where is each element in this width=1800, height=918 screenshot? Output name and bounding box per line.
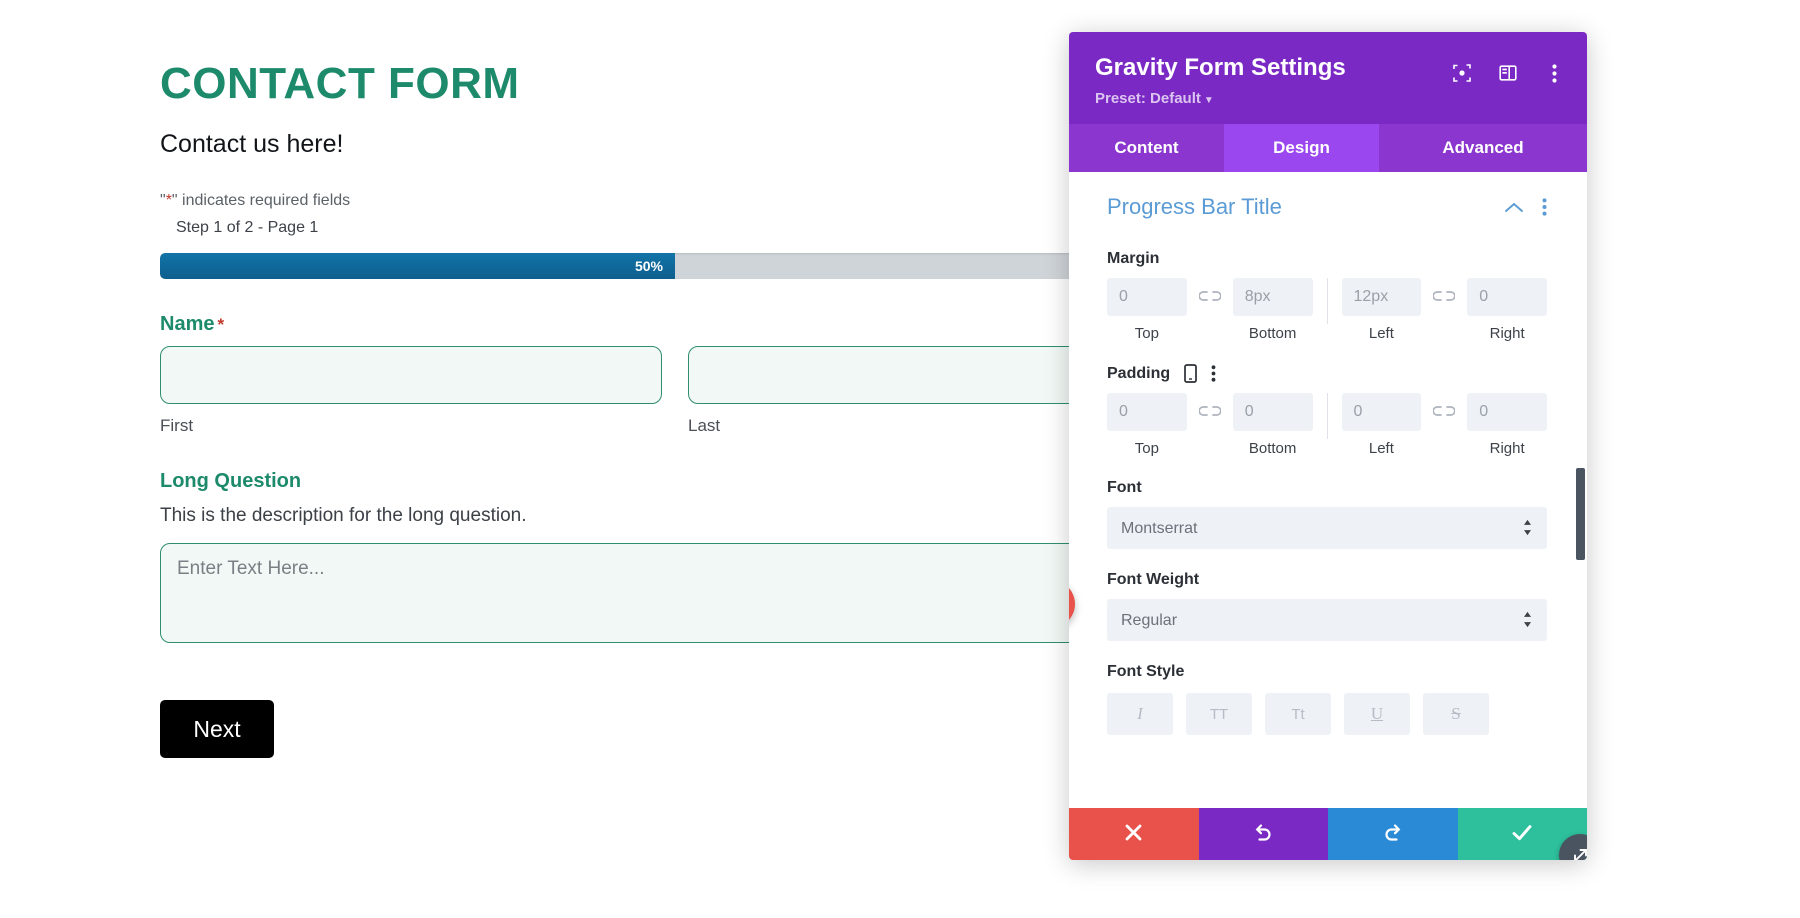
name-field-row: First Last	[160, 346, 1190, 436]
font-weight-group: Font Weight Regular	[1107, 571, 1547, 641]
margin-inputs: Top Bottom	[1107, 278, 1547, 342]
name-field-label: Name*	[160, 313, 1180, 336]
font-select[interactable]: Montserrat	[1107, 507, 1547, 549]
long-question-label: Long Question	[160, 470, 1180, 493]
padding-top-bottom-pair: Top Bottom	[1107, 393, 1313, 457]
name-first-column: First	[160, 346, 662, 436]
required-note-text: " indicates required fields	[172, 192, 350, 209]
step-indicator: Step 1 of 2 - Page 1	[176, 219, 1180, 237]
font-style-label: Font Style	[1107, 663, 1547, 681]
panel-footer	[1069, 808, 1587, 860]
margin-label: Margin	[1107, 250, 1547, 268]
margin-right-input[interactable]	[1467, 278, 1547, 316]
panel-scrollbar[interactable]	[1576, 172, 1585, 808]
panel-body: Progress Bar Title	[1069, 172, 1587, 808]
font-style-label-text: Font Style	[1107, 663, 1184, 681]
font-style-buttons: I TT Tt U S	[1107, 693, 1547, 735]
close-x-icon	[1124, 823, 1143, 845]
padding-left-cell: Left	[1342, 393, 1422, 457]
progress-bar: 50%	[160, 253, 1190, 279]
contact-form: CONTACT FORM Contact us here! "*" indica…	[160, 60, 1180, 758]
font-style-uppercase-button[interactable]: TT	[1186, 693, 1252, 735]
padding-left-right-pair: Left Right	[1342, 393, 1548, 457]
next-button[interactable]: Next	[160, 700, 274, 758]
margin-top-input[interactable]	[1107, 278, 1187, 316]
form-subtitle: Contact us here!	[160, 130, 1180, 159]
padding-label-text: Padding	[1107, 365, 1170, 383]
undo-icon	[1252, 822, 1274, 847]
padding-bottom-caption: Bottom	[1233, 440, 1313, 457]
padding-kebab-menu-icon[interactable]	[1211, 365, 1216, 382]
name-first-caption: First	[160, 416, 662, 436]
margin-group: Margin Top	[1107, 250, 1547, 342]
margin-top-caption: Top	[1107, 325, 1187, 342]
margin-left-caption: Left	[1342, 325, 1422, 342]
panel-scrollbar-thumb[interactable]	[1576, 468, 1585, 560]
margin-bottom-cell: Bottom	[1233, 278, 1313, 342]
undo-button[interactable]	[1199, 808, 1329, 860]
name-label-text: Name	[160, 313, 214, 335]
section-header-icons	[1504, 198, 1547, 216]
margin-top-cell: Top	[1107, 278, 1187, 342]
padding-left-right-broken-link-icon[interactable]	[1421, 393, 1467, 431]
padding-top-input[interactable]	[1107, 393, 1187, 431]
panel-tabs: Content Design Advanced	[1069, 124, 1587, 172]
long-question-textarea[interactable]	[160, 543, 1190, 643]
padding-top-cell: Top	[1107, 393, 1187, 457]
progress-bar-fill: 50%	[160, 253, 675, 279]
kebab-menu-icon[interactable]	[1543, 62, 1565, 84]
section-kebab-menu-icon[interactable]	[1542, 198, 1547, 216]
padding-bottom-cell: Bottom	[1233, 393, 1313, 457]
panel-header-icons	[1451, 62, 1565, 84]
focus-target-icon[interactable]	[1451, 62, 1473, 84]
padding-right-cell: Right	[1467, 393, 1547, 457]
page-title: CONTACT FORM	[160, 60, 1180, 108]
panel-header: Gravity Form Settings Preset: Default▼	[1069, 32, 1587, 124]
preset-selector[interactable]: Preset: Default▼	[1095, 90, 1214, 107]
padding-label: Padding	[1107, 364, 1547, 383]
margin-top-bottom-pair: Top Bottom	[1107, 278, 1313, 342]
section-title: Progress Bar Title	[1107, 194, 1282, 220]
margin-bottom-input[interactable]	[1233, 278, 1313, 316]
padding-right-input[interactable]	[1467, 393, 1547, 431]
progress-bar-label: 50%	[635, 258, 663, 274]
font-style-strikethrough-button[interactable]: S	[1423, 693, 1489, 735]
margin-label-text: Margin	[1107, 250, 1159, 268]
margin-left-right-pair: Left Right	[1342, 278, 1548, 342]
name-first-input[interactable]	[160, 346, 662, 404]
margin-divider	[1327, 278, 1328, 324]
font-group: Font Montserrat	[1107, 479, 1547, 549]
margin-left-right-broken-link-icon[interactable]	[1421, 278, 1467, 316]
font-weight-select[interactable]: Regular	[1107, 599, 1547, 641]
font-label: Font	[1107, 479, 1547, 497]
margin-bottom-caption: Bottom	[1233, 325, 1313, 342]
section-header-progress-bar-title[interactable]: Progress Bar Title	[1107, 194, 1547, 228]
padding-left-caption: Left	[1342, 440, 1422, 457]
font-weight-label-text: Font Weight	[1107, 571, 1199, 589]
panel-scroll-area: Progress Bar Title	[1069, 172, 1587, 808]
font-style-underline-button[interactable]: U	[1344, 693, 1410, 735]
padding-left-input[interactable]	[1342, 393, 1422, 431]
margin-left-input[interactable]	[1342, 278, 1422, 316]
font-label-text: Font	[1107, 479, 1142, 497]
tab-design[interactable]: Design	[1224, 124, 1379, 172]
name-required-asterisk: *	[217, 315, 224, 334]
font-weight-select-wrapper: Regular	[1107, 599, 1547, 641]
margin-top-bottom-broken-link-icon[interactable]	[1187, 278, 1233, 316]
padding-divider	[1327, 393, 1328, 439]
padding-top-caption: Top	[1107, 440, 1187, 457]
margin-left-cell: Left	[1342, 278, 1422, 342]
chevron-down-icon: ▼	[1204, 95, 1214, 106]
redo-button[interactable]	[1328, 808, 1458, 860]
tab-advanced[interactable]: Advanced	[1379, 124, 1587, 172]
margin-right-caption: Right	[1467, 325, 1547, 342]
required-fields-note: "*" indicates required fields	[160, 192, 1180, 210]
font-select-wrapper: Montserrat	[1107, 507, 1547, 549]
padding-top-bottom-broken-link-icon[interactable]	[1187, 393, 1233, 431]
long-question-description: This is the description for the long que…	[160, 505, 1180, 527]
gravity-form-settings-panel: 1 Gravity Form Settings Preset: Default▼	[1069, 32, 1587, 860]
margin-right-cell: Right	[1467, 278, 1547, 342]
chevron-up-icon[interactable]	[1504, 201, 1524, 214]
layout-columns-icon[interactable]	[1497, 62, 1519, 84]
font-style-italic-button[interactable]: I	[1107, 693, 1173, 735]
mobile-device-icon[interactable]	[1184, 364, 1197, 383]
font-style-group: Font Style I TT Tt U S	[1107, 663, 1547, 735]
padding-inputs: Top Bottom	[1107, 393, 1547, 457]
padding-bottom-input[interactable]	[1233, 393, 1313, 431]
preset-label: Preset: Default	[1095, 90, 1201, 107]
cancel-button[interactable]	[1069, 808, 1199, 860]
padding-group: Padding	[1107, 364, 1547, 457]
font-weight-label: Font Weight	[1107, 571, 1547, 589]
checkmark-icon	[1511, 823, 1533, 845]
redo-icon	[1382, 822, 1404, 847]
font-style-capitalize-button[interactable]: Tt	[1265, 693, 1331, 735]
tab-content[interactable]: Content	[1069, 124, 1224, 172]
padding-right-caption: Right	[1467, 440, 1547, 457]
